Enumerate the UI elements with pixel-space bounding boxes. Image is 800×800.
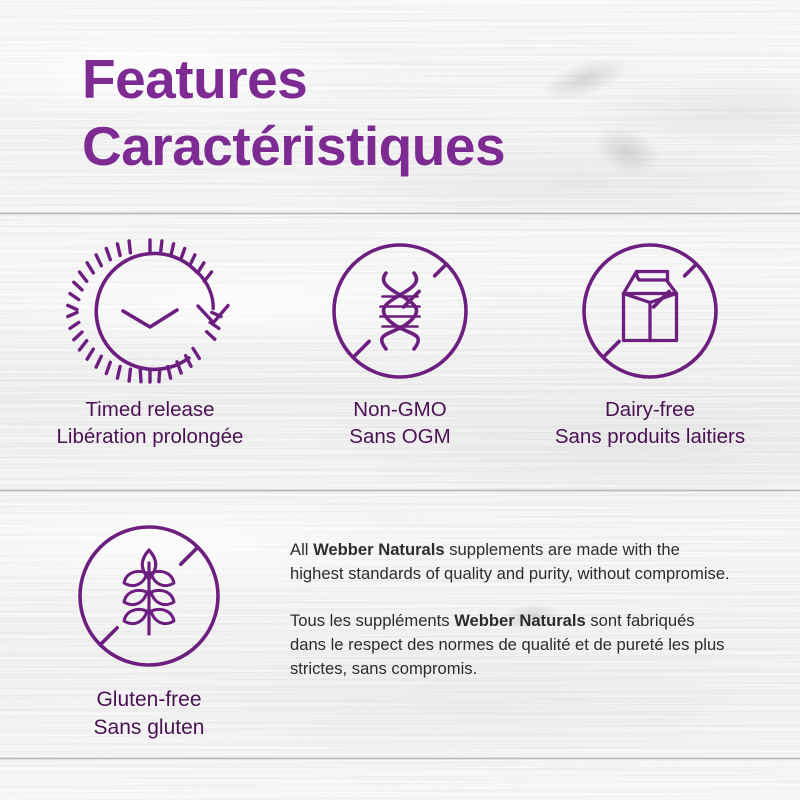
timed-release-clock-arrow-icon: [65, 226, 235, 396]
feature-label-french: Libération prolongée: [57, 423, 244, 450]
brand-name: Webber Naturals: [313, 540, 445, 559]
feature-caption: Timed release Libération prolongée: [57, 396, 244, 450]
non-gmo-dna-no-symbol-icon: [315, 226, 485, 396]
feature-label-french: Sans produits laitiers: [555, 423, 745, 450]
page-title: Features Caractéristiques: [82, 46, 505, 180]
feature-caption: Dairy-free Sans produits laitiers: [555, 396, 745, 450]
page-title-french: Caractéristiques: [82, 113, 505, 180]
feature-caption: Gluten-free Sans gluten: [94, 686, 205, 741]
feature-caption: Non-GMO Sans OGM: [349, 396, 450, 450]
feature-label-french: Sans OGM: [349, 423, 450, 450]
features-panel: Features Caractéristiques: [0, 0, 800, 800]
feature-timed-release: Timed release Libération prolongée: [25, 226, 275, 450]
copy-fr-before: Tous les suppléments: [290, 611, 454, 630]
feature-label-english: Non-GMO: [353, 398, 446, 421]
brand-copy-french: Tous les suppléments Webber Naturals son…: [290, 609, 730, 681]
feature-non-gmo: Non-GMO Sans OGM: [275, 226, 525, 450]
dairy-free-milk-carton-no-symbol-icon: [565, 226, 735, 396]
feature-label-english: Timed release: [85, 398, 214, 421]
brand-name: Webber Naturals: [454, 611, 586, 630]
feature-label-french: Sans gluten: [94, 714, 205, 742]
feature-label-english: Gluten-free: [96, 688, 201, 711]
feature-gluten-free: Gluten-free Sans gluten: [0, 506, 290, 741]
gluten-free-wheat-no-symbol-icon: [60, 506, 238, 686]
feature-row-secondary: Gluten-free Sans gluten All Webber Natur…: [0, 506, 800, 741]
brand-copy-block: All Webber Naturals supplements are made…: [290, 506, 730, 680]
page-title-english: Features: [82, 48, 307, 110]
feature-dairy-free: Dairy-free Sans produits laitiers: [525, 226, 775, 450]
feature-row-primary: Timed release Libération prolongée: [0, 226, 800, 450]
brand-copy-english: All Webber Naturals supplements are made…: [290, 538, 730, 586]
feature-label-english: Dairy-free: [605, 398, 695, 421]
copy-en-before: All: [290, 540, 313, 559]
